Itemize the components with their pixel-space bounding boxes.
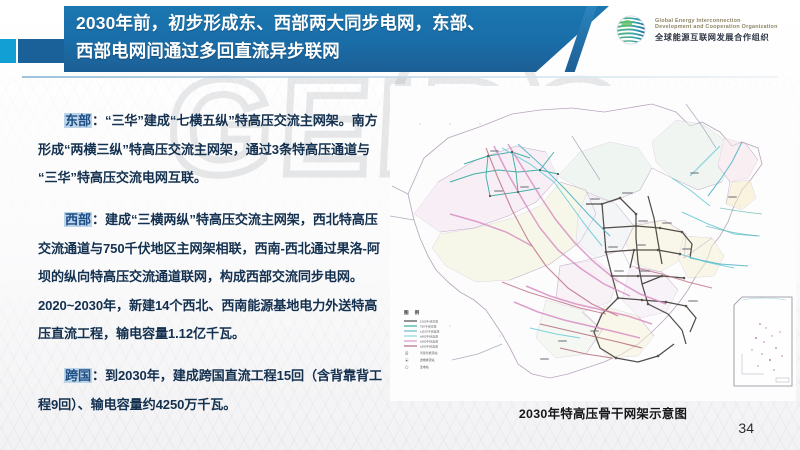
svg-text:±660千伏直流: ±660千伏直流 — [420, 338, 438, 343]
org-name-en-line2: Development and Cooperation Organization — [655, 24, 778, 30]
globe-icon — [614, 13, 648, 47]
paragraph-west: 西部：建成“三横两纵”特高压交流主网架，西北特高压交流通道与750千伏地区主网架… — [38, 206, 386, 349]
svg-text:变电站: 变电站 — [420, 364, 429, 369]
paragraph-transnational-keyword: 跨国 — [64, 368, 92, 383]
svg-text:750千伏交流: 750千伏交流 — [420, 323, 436, 328]
svg-text:送端换流站: 送端换流站 — [420, 357, 435, 362]
body-text-block: 东部：“三华”建成“七横五纵”特高压交流主网架。南方形成“两横三纵”特高压交流主… — [38, 94, 386, 419]
paragraph-transnational: 跨国：到2030年，建成跨国直流工程15回（含背靠背工程9回）、输电容量约425… — [38, 362, 386, 419]
organization-logo: Global Energy Interconnection Developmen… — [614, 13, 778, 47]
svg-text:±800千伏直流: ±800千伏直流 — [420, 333, 438, 338]
page-title-line-1: 2030年前，初步形成东、西部两大同步电网，东部、 — [76, 13, 485, 33]
svg-text:图 例: 图 例 — [404, 309, 422, 316]
header-underline — [22, 76, 778, 78]
map-graphic: 图 例 1000千伏交流 750千伏交流 ±1100千伏直流 ±800千伏直流 … — [390, 86, 796, 401]
org-name-cn: 全球能源互联网发展合作组织 — [655, 33, 778, 43]
paragraph-east-keyword: 东部 — [64, 113, 92, 128]
page-title: 2030年前，初步形成东、西部两大同步电网，东部、 西部电网间通过多回直流异步联… — [76, 9, 546, 65]
paragraph-east: 东部：“三华”建成“七横五纵”特高压交流主网架。南方形成“两横三纵”特高压交流主… — [38, 107, 386, 193]
china-grid-map: 图 例 1000千伏交流 750千伏交流 ±1100千伏直流 ±800千伏直流 … — [390, 86, 796, 401]
paragraph-west-text: ：建成“三横两纵”特高压交流主网架，西北特高压交流通道与750千伏地区主网架相联… — [38, 212, 380, 341]
page-title-line-2: 西部电网间通过多回直流异步联网 — [76, 37, 546, 65]
paragraph-west-keyword: 西部 — [64, 212, 92, 227]
map-caption: 2030年特高压骨干网架示意图 — [488, 404, 718, 422]
decor-bar-navy — [18, 39, 64, 63]
slide-canvas: GEIDCO 2030年前，初步形成东、西部两大同步电网，东部、 西部电网间通过… — [0, 0, 800, 450]
organization-name: Global Energy Interconnection Developmen… — [655, 18, 778, 42]
svg-text:±500千伏直流: ±500千伏直流 — [420, 343, 438, 348]
page-number: 34 — [738, 420, 754, 436]
south-china-sea-inset — [734, 297, 792, 386]
decor-bar-cyan — [0, 39, 16, 63]
svg-text:±1100千伏直流: ±1100千伏直流 — [420, 328, 439, 333]
svg-text:背靠背换流站: 背靠背换流站 — [420, 350, 437, 355]
svg-text:1000千伏交流: 1000千伏交流 — [420, 318, 438, 323]
